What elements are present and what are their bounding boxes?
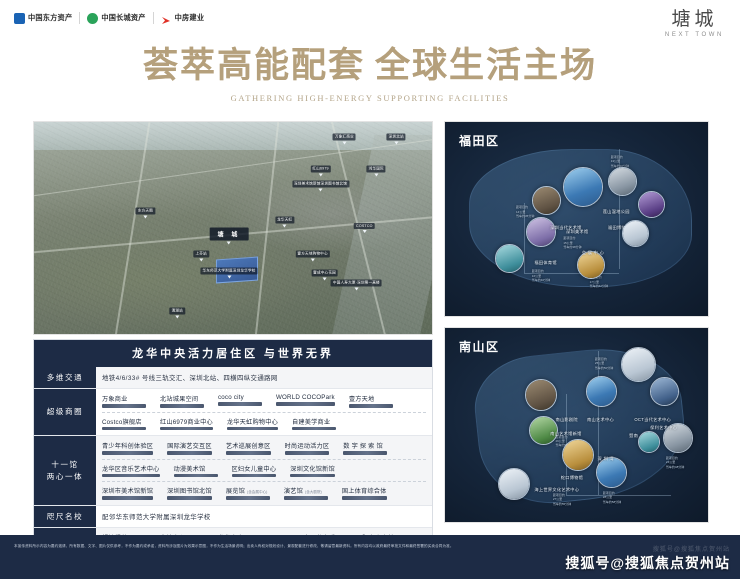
facility-chip: 红山6979商业中心 [160,417,213,431]
table-cell-text: 地铁4/6/33# 号线三轨交汇、深圳北站、四横四纵交通路网 [102,371,426,384]
facility-name: 深圳市美术馆新馆 [102,486,153,495]
facility-chip: 深圳市美术馆新馆 [102,486,153,500]
facility-chip: 区妇女儿童中心 [232,464,277,478]
table-row: 超级商圈万象商业北站城果空间coco cityWORLD COCOPark壹方天… [34,388,432,435]
partner-name-orient: 中国东方资产 [28,13,72,23]
facility-distance-badge [226,496,270,500]
map-photo-thumbnail [639,432,659,452]
facility-chip: 艺术巡展创意区 [226,441,271,455]
facility-chip: 壹方天地 [349,394,393,408]
facility-name: 自建美学商业 [292,417,330,426]
table-row-content: 万象商业北站城果空间coco cityWORLD COCOPark壹方天地Cos… [96,389,432,435]
facility-distance-badge [284,496,328,500]
map-photo-bubble[interactable] [638,431,660,453]
map-landmark-label: 深圳当代艺术馆 [550,225,581,231]
table-row-content: 配邻华东师范大学附属深圳龙华学校 [96,506,432,527]
map-landmark-label: 保利艺术中心 [650,425,677,431]
table-chip-group: 龙华区音乐艺术中心动漫美术馆区妇女儿童中心深圳文化馆新馆 [102,459,426,479]
page-title-block: 荟萃高能配套全球生活主场 GATHERING HIGH-ENERGY SUPPO… [0,46,740,103]
facility-chip: 动漫美术馆 [174,464,218,478]
map-card-nanshan[interactable]: 南山区 距项目约 25公里 驾车约50分钟距项目约 26公里 驾车约52分钟距项… [444,327,709,523]
table-chip-group: 万象商业北站城果空间coco cityWORLD COCOPark壹方天地 [102,393,426,409]
map-photo-thumbnail [587,377,616,406]
map-landmark-label: 暨南 [629,433,638,439]
table-cell-text: 配邻华东师范大学附属深圳龙华学校 [102,510,426,523]
facility-name-note: (含会展中心) [247,490,267,494]
facility-chip: 演艺馆(含大剧院) [284,486,328,500]
map-photo-thumbnail [527,218,555,246]
facility-name: 龙华区音乐艺术中心 [102,464,160,473]
map-photo-thumbnail [623,221,648,246]
facility-name: WORLD COCOPark [276,394,335,401]
page-subtitle: GATHERING HIGH-ENERGY SUPPORTING FACILIT… [0,93,740,103]
facility-chip: coco city [218,394,262,408]
facility-distance-badge [232,474,277,478]
map-distance-note: 距项目约 28公里 驾车约58分钟 [603,491,621,504]
facility-name: 青少年科创体验区 [102,441,153,450]
map-landmark-label: 海上世界文化艺术中心 [534,487,579,493]
facility-distance-badge [342,496,387,500]
map-distance-note: 距项目约 14公里 驾车约35分钟 [516,205,534,218]
facility-name: 国际演艺交互区 [167,441,212,450]
partner-logo-greatwall: 中国长城资产 [87,13,145,24]
map-title-nanshan: 南山区 [459,338,500,355]
facility-distance-badge [102,404,146,408]
partner-name-third: 中房建业 [175,13,205,23]
map-photo-bubble[interactable] [562,439,594,471]
facility-distance-badge [160,404,204,408]
facility-distance-badge [102,427,146,431]
watermark-ghost: 搜狐号@搜狐焦点贺州站 [565,544,730,553]
facility-name: 艺术巡展创意区 [226,441,271,450]
facility-table-header: 龙华中央活力居住区 与世界无界 [34,340,432,367]
legal-disclaimer: 本宣传资料所示内容为要约邀请，所有数据、文字、图片仅供参考，不作为要约或承诺，资… [14,543,574,549]
blue-square-logo-icon [14,13,25,24]
facility-name: 北站城果空间 [160,394,198,403]
map-photo-thumbnail [564,168,602,206]
map-photo-bubble[interactable] [525,379,557,411]
map-photo-bubble[interactable] [532,186,561,215]
facility-distance-badge [292,427,336,431]
map-photo-bubble[interactable] [563,167,603,207]
map-distance-note: 距项目约 13公里 驾车约32分钟 [611,155,629,168]
left-panel: 万象汇商业深圳北站红山6979鸿华国际深圳美术馆新馆深圳图书馆北馆东方天鹅龙华天… [33,121,433,533]
facility-chip: Costco旗舰店 [102,417,146,431]
facility-chip: 时尚运动活力区 [285,441,330,455]
facility-chip: 国上体育综合体 [342,486,387,500]
map-card-futian[interactable]: 福田区 距项目约 14公里 驾车约35分钟距项目约 15公里 驾车约38分钟距项… [444,121,709,317]
table-row: 咫尺名校配邻华东师范大学附属深圳龙华学校 [34,505,432,527]
facility-table: 龙华中央活力居住区 与世界无界 多维交通地铁4/6/33# 号线三轨交汇、深圳北… [33,339,433,553]
table-row-label: 十一馆 两心一体 [34,436,96,505]
facility-distance-badge [218,402,262,406]
facility-chip: 深圳图书馆北馆 [167,486,212,500]
project-logo: 塘城 NEXT TOWN [665,10,724,38]
table-chip-group: 青少年科创体验区国际演艺交互区艺术巡展创意区时尚运动活力区数 字 探 索 馆 [102,440,426,456]
watermark-text: 搜狐号@搜狐焦点贺州站 [565,553,730,573]
map-photo-bubble[interactable] [586,376,617,407]
facility-name: 时尚运动活力区 [285,441,330,450]
map-photo-bubble[interactable] [622,220,649,247]
map-photo-thumbnail [526,380,556,410]
aerial-haze [34,122,432,334]
table-row-label: 咫尺名校 [34,506,96,527]
table-chip-group: 深圳市美术馆新馆深圳图书馆北馆展览馆(含会展中心)演艺馆(含大剧院)国上体育综合… [102,481,426,501]
project-logo-cn: 塘城 [665,10,724,29]
table-row: 多维交通地铁4/6/33# 号线三轨交汇、深圳北站、四横四纵交通路网 [34,367,432,388]
project-logo-en: NEXT TOWN [665,32,724,38]
map-photo-thumbnail [496,245,523,272]
facility-name: 展览馆(含会展中心) [226,486,268,495]
map-distance-note: 距项目约 16公里 驾车约40分钟 [532,269,550,282]
facility-table-body: 多维交通地铁4/6/33# 号线三轨交汇、深圳北站、四横四纵交通路网超级商圈万象… [34,367,432,552]
table-row-content: 青少年科创体验区国际演艺交互区艺术巡展创意区时尚运动活力区数 字 探 索 馆龙华… [96,436,432,505]
facility-chip: 龙华天虹购物中心 [227,417,278,431]
facility-distance-badge [276,402,335,406]
right-panel: 福田区 距项目约 14公里 驾车约35分钟距项目约 15公里 驾车约38分钟距项… [444,121,709,523]
map-landmark-label: OCT当代艺术中心 [634,417,671,423]
map-landmark-label: 蛇口博物馆 [561,475,583,481]
facility-name: 深圳图书馆北馆 [167,486,212,495]
facility-distance-badge [102,496,153,500]
facility-name: 万象商业 [102,394,128,403]
page-title-part1: 荟萃高能配套 [143,46,365,85]
table-row-label: 多维交通 [34,367,96,388]
partner-logo-orient: 中国东方资产 [14,13,72,24]
map-photo-thumbnail [622,348,655,381]
facility-distance-badge [285,451,330,455]
facility-chip: 青少年科创体验区 [102,441,153,455]
map-photo-thumbnail [499,469,529,499]
table-chip-group: Costco旗舰店红山6979商业中心龙华天虹购物中心自建美学商业 [102,412,426,432]
map-photo-thumbnail [639,192,664,217]
table-row-label: 超级商圈 [34,389,96,435]
facility-distance-badge [167,451,212,455]
facility-distance-badge [226,451,271,455]
facility-name: 区妇女儿童中心 [232,464,277,473]
facility-name: 壹方天地 [349,394,375,403]
facility-name: 国上体育综合体 [342,486,387,495]
facility-chip: 国际演艺交互区 [167,441,212,455]
table-row-content: 地铁4/6/33# 号线三轨交汇、深圳北站、四横四纵交通路网 [96,367,432,388]
red-ribbon-logo-icon [161,13,172,24]
map-title-futian: 福田区 [459,132,500,149]
facility-distance-badge [343,451,387,455]
facility-chip: 展览馆(含会展中心) [226,486,270,500]
facility-chip: 深圳文化馆新馆 [290,464,335,478]
facility-distance-badge [227,427,278,431]
facility-chip: 万象商业 [102,394,146,408]
partner-logo-third: 中房建业 [161,13,205,24]
facility-name: 红山6979商业中心 [160,417,213,426]
page-title-part2: 全球生活主场 [375,46,597,85]
map-photo-bubble[interactable] [608,167,637,196]
facility-chip: 龙华区音乐艺术中心 [102,464,160,478]
divider [79,12,80,24]
map-photo-thumbnail [609,168,636,195]
facility-name: 深圳文化馆新馆 [290,464,335,473]
facility-chip: WORLD COCOPark [276,394,335,408]
facility-name: 动漫美术馆 [174,464,206,473]
map-landmark-label: 会 展 中 心 [582,250,604,256]
map-photo-bubble[interactable] [638,191,665,218]
facility-distance-badge [167,496,212,500]
facility-name: 龙华天虹购物中心 [227,417,278,426]
map-landmark-label: 南山艺术馆新馆 [550,431,581,437]
watermark: 搜狐号@搜狐焦点贺州站 搜狐号@搜狐焦点贺州站 [565,544,730,573]
facility-name: 演艺馆(含大剧院) [284,486,322,495]
facility-chip: 北站城果空间 [160,394,204,408]
divider [153,12,154,24]
facility-distance-badge [102,451,153,455]
facility-distance-badge [102,474,160,478]
map-photo-thumbnail [563,440,593,470]
map-landmark-label: 福田体育馆 [534,260,556,266]
facility-name: coco city [218,394,244,401]
facility-name: 数 字 探 索 馆 [343,441,383,450]
map-photo-bubble[interactable] [526,217,556,247]
map-photo-thumbnail [597,458,626,487]
project-site-highlight [216,257,258,284]
map-distance-note: 距项目约 27公里 驾车约55分钟 [553,493,571,506]
brand-bar: 中国东方资产 中国长城资产 中房建业 塘城 NEXT TOWN [0,0,740,42]
partner-name-greatwall: 中国长城资产 [101,13,145,23]
facility-distance-badge [160,427,213,431]
map-landmark-label: 深 圳 湾 [598,456,614,462]
facility-chip: 数 字 探 索 馆 [343,441,387,455]
facility-chip: 自建美学商业 [292,417,336,431]
map-distance-note: 距项目约 24公里 驾车约48分钟 [666,456,684,469]
map-landmark-label: 莲山湿地公园 [603,209,630,215]
footer-bar: 本宣传资料所示内容为要约邀请，所有数据、文字、图片仅供参考，不作为要约或承诺，资… [0,535,740,579]
partner-logo-group: 中国东方资产 中国长城资产 中房建业 [14,12,204,24]
map-photo-bubble[interactable] [650,377,679,406]
facility-distance-badge [290,474,335,478]
map-photo-bubble[interactable] [621,347,656,382]
map-distance-note: 距项目约 25公里 驾车约50分钟 [595,357,613,370]
facility-name: Costco旗舰店 [102,417,142,426]
facility-name-note: (含大剧院) [305,490,322,494]
page-title: 荟萃高能配套全球生活主场 [0,46,740,86]
map-photo-thumbnail [651,378,678,405]
green-circle-logo-icon [87,13,98,24]
aerial-photo: 万象汇商业深圳北站红山6979鸿华国际深圳美术馆新馆深圳图书馆北馆东方天鹅龙华天… [33,121,433,335]
map-photo-thumbnail [533,187,560,214]
facility-distance-badge [349,404,393,408]
table-row: 十一馆 两心一体青少年科创体验区国际演艺交互区艺术巡展创意区时尚运动活力区数 字… [34,435,432,505]
map-photo-bubble[interactable] [495,244,524,273]
facility-distance-badge [174,474,218,478]
map-landmark-label: 南山艺术中心 [587,417,614,423]
map-landmark-label: 南山影剧院 [555,417,577,423]
map-distance-note: 距项目约 15公里 驾车约38分钟 [563,236,581,249]
